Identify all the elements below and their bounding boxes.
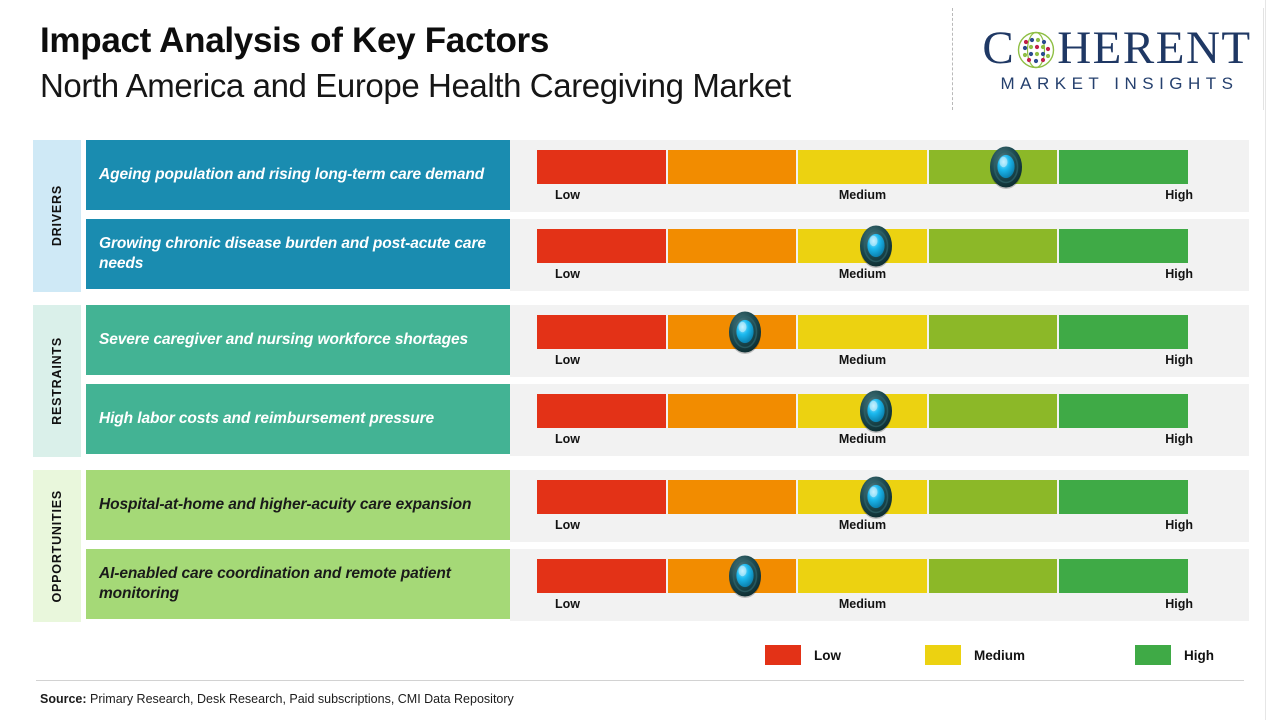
gauge-segment-5 [1059, 480, 1188, 514]
gauge-segment-2 [668, 315, 797, 349]
factor-text: Ageing population and rising long-term c… [99, 165, 484, 185]
logo-wordmark: C HERENT [971, 20, 1263, 76]
legend-label: High [1184, 648, 1214, 663]
scale-label-medium: Medium [839, 432, 886, 446]
logo-tagline: MARKET INSIGHTS [971, 74, 1263, 94]
header: Impact Analysis of Key Factors North Ame… [40, 22, 1000, 105]
factor-text: Hospital-at-home and higher-acuity care … [99, 495, 471, 515]
gauge-segment-1 [537, 315, 666, 349]
gauge-scale-bar [537, 480, 1188, 514]
category-label: OPPORTUNITIES [50, 490, 64, 603]
legend-swatch-medium [925, 645, 961, 665]
category-label: DRIVERS [50, 185, 64, 246]
gauge-scale-labels: LowMediumHigh [537, 597, 1188, 617]
scale-label-high: High [1165, 353, 1193, 367]
scale-label-low: Low [555, 518, 580, 532]
gauge-segment-4 [929, 394, 1058, 428]
gauge-segment-1 [537, 229, 666, 263]
gauge-segment-4 [929, 229, 1058, 263]
scale-label-high: High [1165, 518, 1193, 532]
gauge-scale-bar [537, 394, 1188, 428]
scale-label-low: Low [555, 267, 580, 281]
globe-sphere-icon [1016, 30, 1056, 70]
gauge-segment-3 [798, 229, 927, 263]
factor-box: Severe caregiver and nursing workforce s… [86, 305, 533, 375]
factor-box: Ageing population and rising long-term c… [86, 140, 533, 210]
factor-box: Hospital-at-home and higher-acuity care … [86, 470, 533, 540]
gauge-scale-bar [537, 315, 1188, 349]
gauge-segment-3 [798, 480, 927, 514]
gauge-segment-2 [668, 394, 797, 428]
gauge-segment-1 [537, 150, 666, 184]
scale-label-medium: Medium [839, 188, 886, 202]
gauge-segment-5 [1059, 559, 1188, 593]
footer-divider [36, 680, 1244, 681]
legend-item: Low [765, 645, 841, 665]
gauge-segment-3 [798, 394, 927, 428]
gauge-scale-labels: LowMediumHigh [537, 188, 1188, 208]
gauge-segment-3 [798, 315, 927, 349]
category-label: RESTRAINTS [50, 337, 64, 425]
impact-gauge: LowMediumHigh [510, 140, 1249, 212]
scale-label-high: High [1165, 267, 1193, 281]
category-panel-restraints: RESTRAINTS [33, 305, 81, 457]
source-text: Primary Research, Desk Research, Paid su… [87, 692, 514, 706]
legend: LowMediumHigh [765, 645, 1185, 667]
scale-label-low: Low [555, 597, 580, 611]
factor-text: Growing chronic disease burden and post-… [99, 234, 533, 275]
logo-wordmark-rest: HERENT [1057, 25, 1251, 72]
scale-label-medium: Medium [839, 267, 886, 281]
scale-label-low: Low [555, 353, 580, 367]
scale-label-low: Low [555, 188, 580, 202]
page-subtitle: North America and Europe Health Caregivi… [40, 68, 1000, 105]
scale-label-high: High [1165, 432, 1193, 446]
factor-text: High labor costs and reimbursement press… [99, 409, 434, 429]
impact-gauge: LowMediumHigh [510, 549, 1249, 621]
gauge-scale-bar [537, 229, 1188, 263]
source-note: Source: Primary Research, Desk Research,… [40, 692, 514, 706]
factor-box: AI-enabled care coordination and remote … [86, 549, 533, 619]
scale-label-low: Low [555, 432, 580, 446]
brand-logo: C HERENT MARKET I [952, 8, 1264, 110]
gauge-scale-labels: LowMediumHigh [537, 267, 1188, 287]
gauge-segment-5 [1059, 394, 1188, 428]
impact-gauge: LowMediumHigh [510, 470, 1249, 542]
gauge-segment-4 [929, 315, 1058, 349]
logo-letter-c: C [982, 25, 1015, 72]
factor-box: High labor costs and reimbursement press… [86, 384, 533, 454]
gauge-scale-labels: LowMediumHigh [537, 353, 1188, 373]
gauge-scale-bar [537, 150, 1188, 184]
legend-label: Medium [974, 648, 1025, 663]
category-panel-drivers: DRIVERS [33, 140, 81, 292]
scale-label-high: High [1165, 597, 1193, 611]
gauge-segment-4 [929, 559, 1058, 593]
scale-label-medium: Medium [839, 597, 886, 611]
scale-label-high: High [1165, 188, 1193, 202]
impact-gauge: LowMediumHigh [510, 305, 1249, 377]
impact-gauge: LowMediumHigh [510, 219, 1249, 291]
gauge-segment-5 [1059, 150, 1188, 184]
source-label: Source: [40, 692, 87, 706]
factor-text: AI-enabled care coordination and remote … [99, 564, 533, 605]
gauge-segment-4 [929, 480, 1058, 514]
factor-box: Growing chronic disease burden and post-… [86, 219, 533, 289]
page-title: Impact Analysis of Key Factors [40, 22, 1000, 60]
legend-swatch-low [765, 645, 801, 665]
scale-label-medium: Medium [839, 353, 886, 367]
gauge-segment-1 [537, 394, 666, 428]
gauge-segment-2 [668, 229, 797, 263]
legend-label: Low [814, 648, 841, 663]
gauge-segment-3 [798, 559, 927, 593]
factor-text: Severe caregiver and nursing workforce s… [99, 330, 468, 350]
gauge-segment-5 [1059, 315, 1188, 349]
legend-item: High [1135, 645, 1214, 665]
gauge-segment-1 [537, 480, 666, 514]
gauge-segment-5 [1059, 229, 1188, 263]
legend-item: Medium [925, 645, 1025, 665]
gauge-segment-2 [668, 150, 797, 184]
scale-label-medium: Medium [839, 518, 886, 532]
gauge-segment-2 [668, 480, 797, 514]
gauge-segment-2 [668, 559, 797, 593]
impact-gauge: LowMediumHigh [510, 384, 1249, 456]
gauge-segment-3 [798, 150, 927, 184]
gauge-segment-4 [929, 150, 1058, 184]
gauge-scale-labels: LowMediumHigh [537, 518, 1188, 538]
category-panel-opportunities: OPPORTUNITIES [33, 470, 81, 622]
legend-swatch-high [1135, 645, 1171, 665]
gauge-segment-1 [537, 559, 666, 593]
gauge-scale-labels: LowMediumHigh [537, 432, 1188, 452]
gauge-scale-bar [537, 559, 1188, 593]
right-edge-rule [1265, 0, 1266, 720]
